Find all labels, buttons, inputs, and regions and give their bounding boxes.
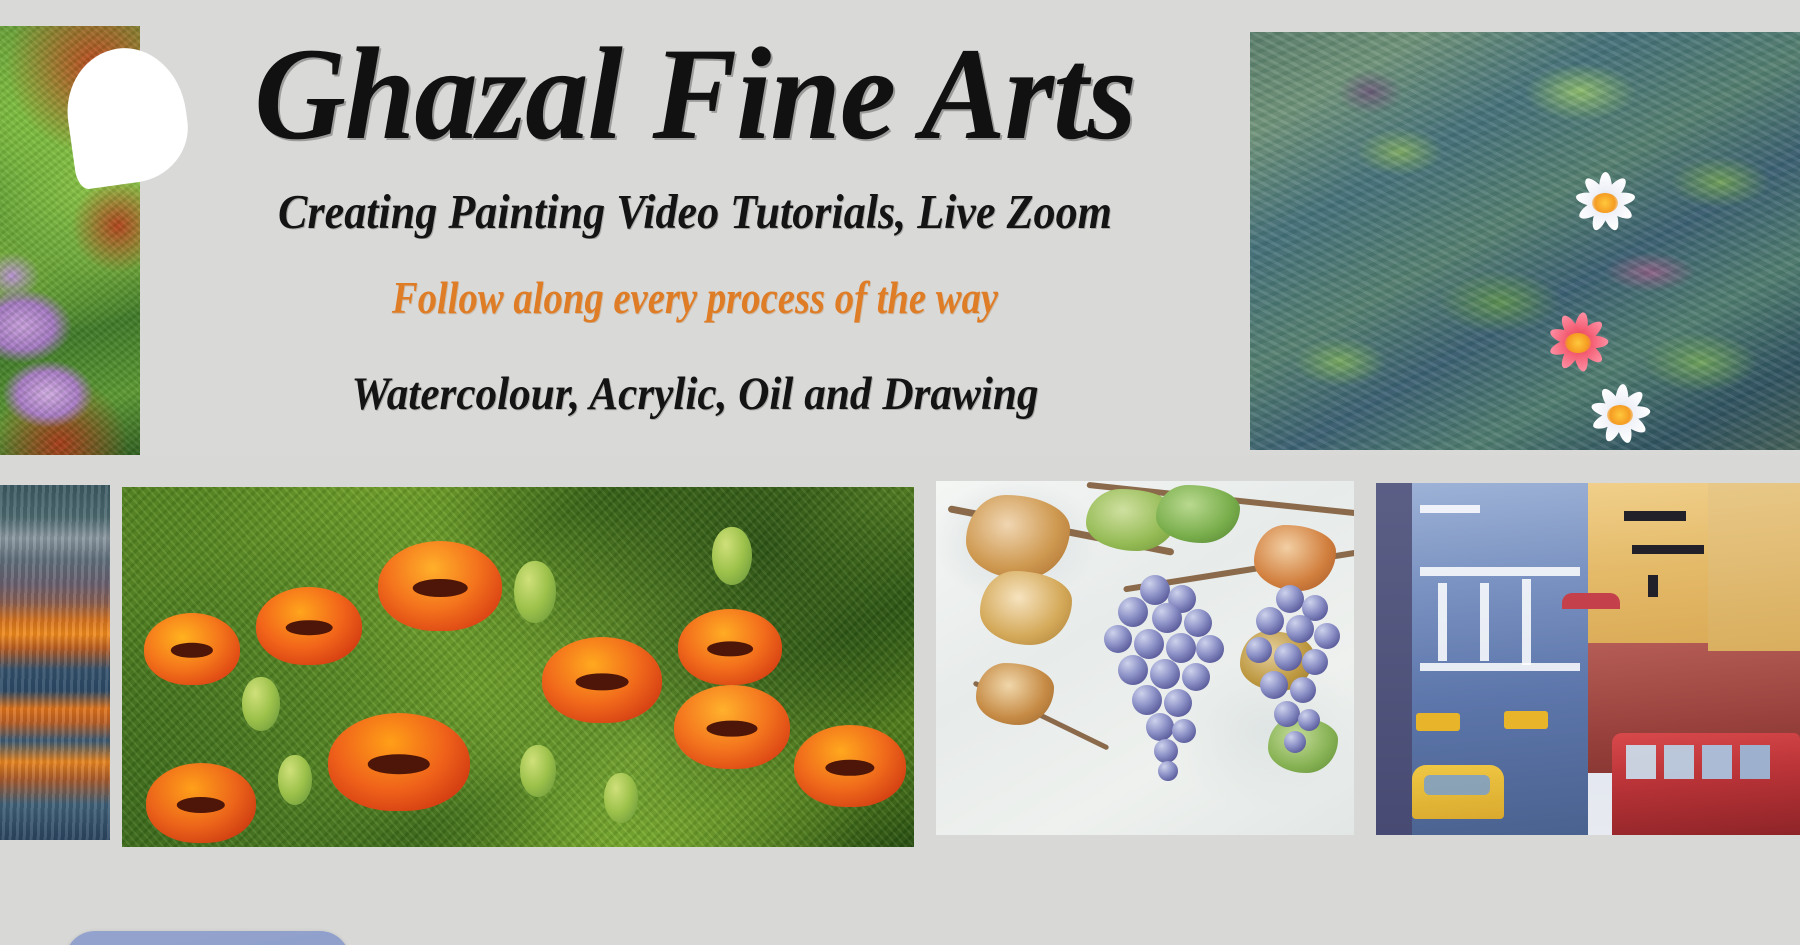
- building-stripe-dark: [1624, 511, 1686, 521]
- grape: [1154, 739, 1178, 763]
- grape: [1132, 685, 1162, 715]
- water-lily-white-top: [1540, 152, 1670, 252]
- grape: [1172, 719, 1196, 743]
- artwork-watercolour-cityscape: [1376, 483, 1800, 835]
- poppy-flower: [328, 713, 470, 811]
- banner-subtitle: Creating Painting Video Tutorials, Live …: [196, 187, 1195, 236]
- grape: [1274, 643, 1302, 671]
- grape: [1152, 603, 1182, 633]
- poppy-bud: [278, 755, 312, 805]
- grape: [1164, 689, 1192, 717]
- grape: [1146, 713, 1174, 741]
- window: [1480, 583, 1489, 661]
- tram-window: [1702, 745, 1732, 779]
- tram-window: [1664, 745, 1694, 779]
- grape: [1196, 635, 1224, 663]
- poppy-flower: [542, 637, 662, 723]
- grape: [1286, 615, 1314, 643]
- water-lily-white-bottom: [1550, 362, 1690, 450]
- banner-tagline: Follow along every process of the way: [218, 276, 1173, 321]
- banner-text-block: Ghazal Fine Arts Creating Painting Video…: [140, 0, 1250, 455]
- poppy-flower: [146, 763, 256, 843]
- building-stripe-dark: [1648, 575, 1658, 597]
- grape: [1284, 731, 1306, 753]
- grape: [1104, 625, 1132, 653]
- grape: [1290, 677, 1316, 703]
- window: [1420, 567, 1580, 576]
- banner-page: Ghazal Fine Arts Creating Painting Video…: [0, 0, 1800, 945]
- lily-core: [1592, 193, 1618, 213]
- header-banner: Ghazal Fine Arts Creating Painting Video…: [0, 0, 1800, 455]
- poppy-flower: [674, 685, 790, 769]
- grape: [1302, 649, 1328, 675]
- poppy-bud: [604, 773, 638, 823]
- poppy-flower: [678, 609, 782, 685]
- grape: [1158, 761, 1178, 781]
- grape: [1118, 655, 1148, 685]
- grape: [1246, 637, 1272, 663]
- poppy-flower: [144, 613, 240, 685]
- grape: [1140, 575, 1170, 605]
- poppy-flower: [794, 725, 906, 807]
- grape: [1118, 597, 1148, 627]
- lily-core: [1607, 405, 1633, 425]
- grape-cluster-right: [1236, 585, 1346, 765]
- window: [1522, 579, 1531, 665]
- window: [1420, 663, 1580, 671]
- grape: [1274, 701, 1300, 727]
- artwork-sunset-seascape: [0, 485, 110, 840]
- building-stripe-dark: [1632, 545, 1704, 554]
- tram-window: [1740, 745, 1770, 779]
- window: [1438, 583, 1447, 661]
- poppy-bud: [712, 527, 752, 585]
- grape: [1134, 629, 1164, 659]
- poppy-flower: [256, 587, 362, 665]
- poppy-bud: [242, 677, 280, 731]
- grape: [1276, 585, 1304, 613]
- grape: [1182, 663, 1210, 691]
- artwork-orange-poppies: [122, 487, 914, 847]
- artist-portrait-photo: [65, 931, 350, 945]
- window: [1420, 505, 1480, 513]
- grape: [1298, 709, 1320, 731]
- banner-media-line: Watercolour, Acrylic, Oil and Drawing: [184, 371, 1205, 418]
- artwork-watercolour-grapes: [936, 481, 1354, 835]
- artwork-row: [0, 455, 1800, 945]
- poppy-bud: [514, 561, 556, 623]
- grape: [1150, 659, 1180, 689]
- traffic-signal: [1416, 713, 1460, 731]
- lily-core: [1565, 333, 1591, 353]
- grape: [1166, 633, 1196, 663]
- grape-cluster-main: [1096, 575, 1236, 785]
- page-title: Ghazal Fine Arts: [162, 28, 1228, 160]
- building-blue-left: [1376, 483, 1412, 835]
- sunset-seascape-canvas: [0, 485, 110, 840]
- grape: [1256, 607, 1284, 635]
- grape: [1184, 609, 1212, 637]
- poppy-flower: [378, 541, 502, 631]
- poppy-bud: [520, 745, 556, 797]
- artwork-water-lilies: [1250, 32, 1800, 450]
- taxi-window: [1424, 775, 1490, 795]
- tram-window: [1626, 745, 1656, 779]
- grape: [1260, 671, 1288, 699]
- building-right-edge: [1708, 483, 1800, 651]
- traffic-signal: [1504, 711, 1548, 729]
- grape: [1314, 623, 1340, 649]
- awning-red: [1562, 593, 1620, 609]
